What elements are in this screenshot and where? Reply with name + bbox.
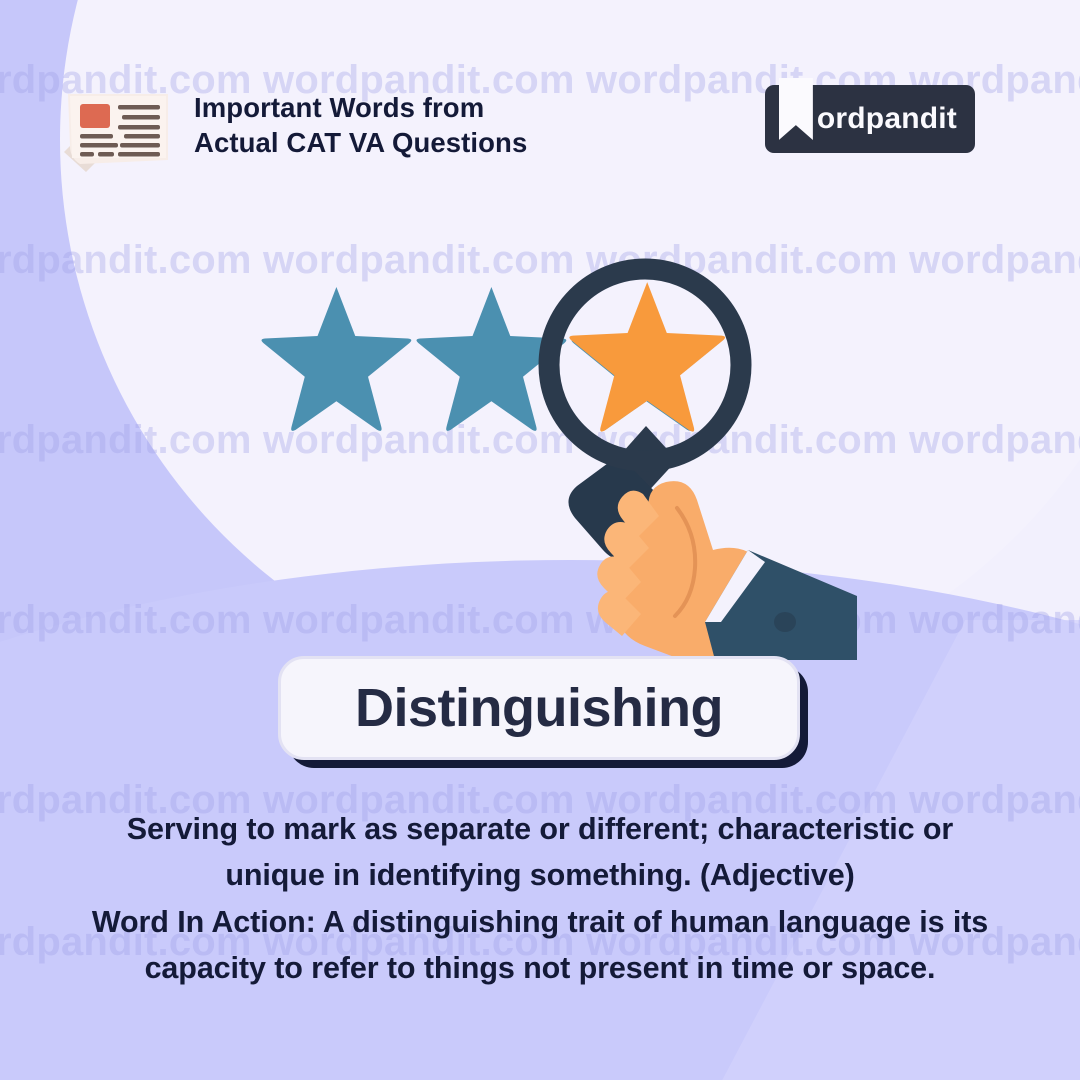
poster-canvas: wordpandit.com wordpandit.com wordpandit…	[0, 0, 1080, 1080]
definition-line-1: Serving to mark as separate or different…	[40, 806, 1040, 852]
word-title: Distinguishing	[355, 677, 723, 739]
header-title: Important Words from Actual CAT VA Quest…	[194, 91, 527, 160]
word-in-action-line-1: Word In Action: A distinguishing trait o…	[40, 899, 1040, 945]
star-1	[262, 287, 412, 431]
newspaper-icon	[50, 78, 178, 174]
word-card: Distinguishing	[278, 656, 808, 768]
header-title-line1: Important Words from	[194, 91, 527, 126]
bookmark-icon	[779, 78, 813, 140]
star-rating-magnifier-illustration	[245, 250, 905, 660]
star-4-highlighted	[569, 282, 725, 431]
definition-line-2: unique in identifying something. (Adject…	[40, 852, 1040, 898]
wordpandit-logo[interactable]: ordpandit	[765, 85, 975, 153]
word-in-action-line-2: capacity to refer to things not present …	[40, 945, 1040, 991]
header-title-line2: Actual CAT VA Questions	[194, 126, 527, 161]
word-card-face: Distinguishing	[278, 656, 800, 760]
definition-block: Serving to mark as separate or different…	[40, 806, 1040, 991]
header: Important Words from Actual CAT VA Quest…	[50, 78, 527, 174]
logo-text: ordpandit	[817, 102, 957, 136]
